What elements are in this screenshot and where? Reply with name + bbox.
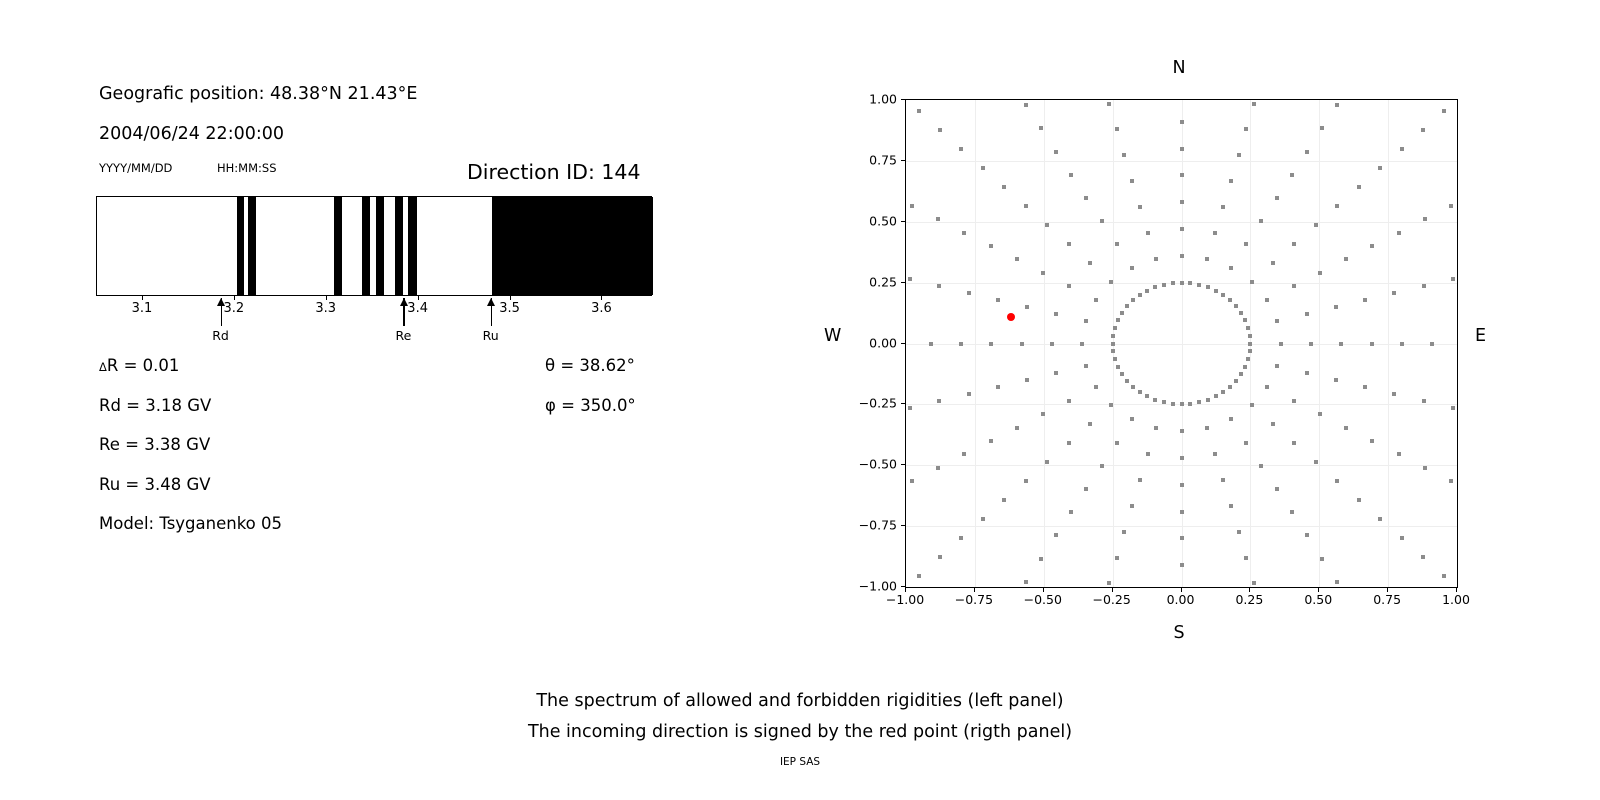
x-tick-mark <box>510 296 511 300</box>
direction-point <box>1125 379 1129 383</box>
direction-point <box>1115 127 1119 131</box>
direction-point <box>1025 305 1029 309</box>
direction-point <box>1279 342 1283 346</box>
parameter-line: ΔR = 0.01 <box>99 356 179 375</box>
direction-point <box>1145 289 1149 293</box>
x-tick-label: −0.25 <box>1092 592 1130 607</box>
parameter-line: Ru = 3.48 GV <box>99 475 211 494</box>
direction-point <box>1138 478 1142 482</box>
direction-point <box>937 284 941 288</box>
direction-point <box>1154 257 1158 261</box>
direction-point <box>1025 378 1029 382</box>
direction-point <box>1050 342 1054 346</box>
direction-point <box>1363 298 1367 302</box>
direction-point <box>1378 517 1382 521</box>
direction-point <box>1318 412 1322 416</box>
direction-point <box>1180 120 1184 124</box>
direction-point <box>1442 574 1446 578</box>
direction-point <box>1180 147 1184 151</box>
direction-point <box>1113 326 1117 330</box>
direction-point <box>1449 479 1453 483</box>
direction-point <box>1122 153 1126 157</box>
direction-point <box>1171 402 1175 406</box>
direction-point <box>1002 185 1006 189</box>
direction-point <box>1237 530 1241 534</box>
angle-line: θ = 38.62° <box>545 356 635 375</box>
caption-line-2: The incoming direction is signed by the … <box>0 717 1600 748</box>
direction-point <box>1252 581 1256 585</box>
direction-point <box>1039 126 1043 130</box>
direction-point <box>989 439 993 443</box>
direction-point <box>1084 196 1088 200</box>
parameter-line: Rd = 3.18 GV <box>99 396 211 415</box>
direction-point <box>1125 304 1129 308</box>
direction-point <box>1084 487 1088 491</box>
direction-point <box>1100 219 1104 223</box>
direction-point <box>1248 334 1252 338</box>
direction-point <box>1116 318 1120 322</box>
x-tick-mark <box>601 296 602 300</box>
direction-point <box>1111 342 1115 346</box>
direction-point <box>1153 285 1157 289</box>
direction-point <box>1067 399 1071 403</box>
datetime-label: 2004/06/24 22:00:00 <box>99 124 284 144</box>
direction-point <box>1180 227 1184 231</box>
direction-point <box>1067 242 1071 246</box>
direction-point <box>1197 400 1201 404</box>
direction-point <box>1041 271 1045 275</box>
direction-point <box>1084 364 1088 368</box>
x-tick-label: 1.00 <box>1442 592 1470 607</box>
direction-points-layer <box>906 100 1457 587</box>
direction-point <box>1451 277 1455 281</box>
forbidden-band <box>376 197 384 295</box>
direction-point <box>1357 185 1361 189</box>
direction-point <box>1422 399 1426 403</box>
y-tick-label: 1.00 <box>869 92 897 107</box>
direction-point <box>1024 580 1028 584</box>
direction-point <box>1250 403 1254 407</box>
direction-point <box>1100 464 1104 468</box>
direction-point <box>1370 439 1374 443</box>
direction-point <box>1206 398 1210 402</box>
y-tick-label: 0.75 <box>869 152 897 167</box>
direction-point <box>1244 556 1248 560</box>
forbidden-band <box>408 197 417 295</box>
direction-point <box>1088 422 1092 426</box>
direction-point <box>908 277 912 281</box>
direction-point <box>959 536 963 540</box>
direction-point <box>1205 257 1209 261</box>
direction-point <box>1146 452 1150 456</box>
direction-point <box>1237 153 1241 157</box>
direction-point <box>1244 127 1248 131</box>
direction-point <box>1069 510 1073 514</box>
direction-point <box>1020 342 1024 346</box>
x-tick-mark <box>234 296 235 300</box>
direction-point <box>917 574 921 578</box>
direction-point <box>1180 200 1184 204</box>
direction-point <box>1265 298 1269 302</box>
direction-point <box>989 342 993 346</box>
parameter-line: Re = 3.38 GV <box>99 435 210 454</box>
direction-point <box>1115 556 1119 560</box>
direction-point <box>1271 422 1275 426</box>
forbidden-band <box>334 197 342 295</box>
direction-point <box>1188 281 1192 285</box>
x-tick-label: 0.75 <box>1373 592 1401 607</box>
x-tick-label: −1.00 <box>886 592 924 607</box>
direction-point <box>1363 385 1367 389</box>
direction-point <box>1320 557 1324 561</box>
forbidden-band <box>492 197 653 295</box>
direction-point <box>1146 231 1150 235</box>
direction-point <box>1449 204 1453 208</box>
direction-point <box>1067 284 1071 288</box>
forbidden-band <box>395 197 403 295</box>
forbidden-band <box>237 197 244 295</box>
direction-point <box>996 298 1000 302</box>
direction-point <box>1314 460 1318 464</box>
direction-point <box>1094 385 1098 389</box>
direction-point <box>1162 283 1166 287</box>
direction-point <box>936 466 940 470</box>
direction-point <box>1370 342 1374 346</box>
rigidity-axis: 3.13.23.33.43.53.6RdReRu <box>96 296 652 356</box>
caption-line-1: The spectrum of allowed and forbidden ri… <box>0 686 1600 717</box>
direction-point <box>1357 498 1361 502</box>
direction-point <box>938 128 942 132</box>
angle-line: φ = 350.0° <box>545 396 636 415</box>
y-tick-label: 0.25 <box>869 274 897 289</box>
y-tick-label: 0.50 <box>869 213 897 228</box>
direction-point <box>1045 223 1049 227</box>
x-tick-label: 3.6 <box>591 301 612 316</box>
direction-point <box>1239 311 1243 315</box>
y-tick-mark <box>901 221 905 222</box>
direction-point <box>910 204 914 208</box>
parameter-text: R = 0.01 <box>107 356 180 375</box>
forbidden-band <box>248 197 256 295</box>
direction-map-panel: N S W E −1.00−0.75−0.50−0.250.000.250.50… <box>820 40 1520 660</box>
direction-point <box>1243 365 1247 369</box>
direction-point <box>1423 217 1427 221</box>
direction-point <box>1138 390 1142 394</box>
direction-plot-area <box>905 99 1458 588</box>
direction-point <box>1138 293 1142 297</box>
direction-point <box>1041 412 1045 416</box>
direction-point <box>917 109 921 113</box>
compass-north-label: N <box>1172 58 1185 78</box>
x-tick-label: 3.1 <box>132 301 153 316</box>
y-tick-mark <box>901 343 905 344</box>
direction-point <box>1221 390 1225 394</box>
direction-point <box>1335 479 1339 483</box>
y-tick-mark <box>901 160 905 161</box>
x-tick-label: 0.50 <box>1304 592 1332 607</box>
rigidity-spectrum-panel: Geografic position: 48.38°N 21.43°E 2004… <box>0 0 700 620</box>
x-tick-mark <box>418 296 419 300</box>
direction-point <box>1400 536 1404 540</box>
direction-point <box>1015 426 1019 430</box>
direction-point <box>1180 510 1184 514</box>
arrow-up-icon <box>400 298 408 306</box>
direction-point <box>1153 398 1157 402</box>
direction-point <box>1320 126 1324 130</box>
direction-point <box>1180 429 1184 433</box>
direction-point <box>1130 179 1134 183</box>
parameter-line: Model: Tsyganenko 05 <box>99 514 282 533</box>
direction-point <box>1084 319 1088 323</box>
direction-point <box>1305 533 1309 537</box>
direction-point <box>1180 456 1184 460</box>
direction-point <box>1221 205 1225 209</box>
delta-symbol: Δ <box>99 360 107 374</box>
direction-point <box>1214 394 1218 398</box>
figure-caption: The spectrum of allowed and forbidden ri… <box>0 686 1600 748</box>
direction-point <box>1275 364 1279 368</box>
direction-point <box>1054 371 1058 375</box>
direction-point <box>981 166 985 170</box>
footer-label: IEP SAS <box>0 756 1600 768</box>
direction-point <box>1113 357 1117 361</box>
x-tick-label: −0.50 <box>1024 592 1062 607</box>
date-format-hint: YYYY/MM/DD <box>99 161 172 175</box>
direction-point <box>1305 371 1309 375</box>
direction-point <box>1318 271 1322 275</box>
direction-point <box>1115 242 1119 246</box>
direction-point <box>1250 280 1254 284</box>
direction-point <box>1370 244 1374 248</box>
direction-point <box>1024 103 1028 107</box>
direction-point <box>962 452 966 456</box>
x-tick-label: 3.5 <box>499 301 520 316</box>
direction-point <box>1451 406 1455 410</box>
y-tick-label: −0.50 <box>859 457 897 472</box>
direction-point <box>1275 487 1279 491</box>
direction-point <box>1292 242 1296 246</box>
direction-point <box>1039 557 1043 561</box>
y-tick-mark <box>901 464 905 465</box>
y-tick-label: −0.75 <box>859 518 897 533</box>
direction-point <box>1397 231 1401 235</box>
direction-point <box>1067 441 1071 445</box>
direction-point <box>1275 196 1279 200</box>
direction-point <box>1229 504 1233 508</box>
direction-point <box>1116 365 1120 369</box>
direction-point <box>1107 102 1111 106</box>
direction-point <box>1430 342 1434 346</box>
direction-point <box>1221 478 1225 482</box>
direction-point <box>1314 223 1318 227</box>
direction-point <box>1244 242 1248 246</box>
direction-point <box>1344 426 1348 430</box>
direction-point <box>910 479 914 483</box>
marker-label: Ru <box>483 328 499 343</box>
direction-point <box>1122 530 1126 534</box>
direction-point <box>1045 460 1049 464</box>
y-axis-ticks: −1.00−0.75−0.50−0.250.000.250.500.751.00 <box>820 40 905 660</box>
direction-point <box>1259 464 1263 468</box>
direction-point <box>1180 402 1184 406</box>
x-tick-label: 3.3 <box>315 301 336 316</box>
direction-point <box>1130 266 1134 270</box>
direction-point <box>1248 342 1252 346</box>
direction-point <box>1344 257 1348 261</box>
y-tick-mark <box>901 99 905 100</box>
direction-point <box>1292 399 1296 403</box>
x-tick-mark <box>142 296 143 300</box>
direction-point <box>1271 261 1275 265</box>
direction-point <box>1334 305 1338 309</box>
x-tick-mark <box>326 296 327 300</box>
direction-point <box>1400 342 1404 346</box>
direction-point <box>1378 166 1382 170</box>
y-tick-mark <box>901 525 905 526</box>
direction-point <box>1213 231 1217 235</box>
direction-point <box>929 342 933 346</box>
direction-point <box>1259 219 1263 223</box>
forbidden-band <box>362 197 370 295</box>
direction-point <box>1290 173 1294 177</box>
direction-point <box>1265 385 1269 389</box>
incoming-direction-marker <box>1007 313 1015 321</box>
direction-point <box>1111 334 1115 338</box>
x-tick-label: 0.00 <box>1167 592 1195 607</box>
arrow-up-icon <box>487 298 495 306</box>
direction-point <box>1334 378 1338 382</box>
direction-point <box>1335 580 1339 584</box>
direction-point <box>938 555 942 559</box>
x-axis-ticks: −1.00−0.75−0.50−0.250.000.250.500.751.00 <box>905 588 1456 628</box>
direction-point <box>1221 293 1225 297</box>
direction-point <box>1422 284 1426 288</box>
direction-point <box>1109 403 1113 407</box>
direction-point <box>1244 441 1248 445</box>
direction-point <box>1292 284 1296 288</box>
y-tick-mark <box>901 403 905 404</box>
direction-point <box>1229 266 1233 270</box>
direction-point <box>1335 103 1339 107</box>
x-tick-label: 0.25 <box>1235 592 1263 607</box>
direction-point <box>1130 417 1134 421</box>
direction-point <box>1248 349 1252 353</box>
direction-point <box>1292 441 1296 445</box>
direction-point <box>1421 555 1425 559</box>
direction-point <box>937 399 941 403</box>
direction-point <box>1131 298 1135 302</box>
direction-point <box>1111 349 1115 353</box>
direction-point <box>962 231 966 235</box>
direction-point <box>1305 150 1309 154</box>
direction-point <box>1107 581 1111 585</box>
direction-point <box>1397 452 1401 456</box>
direction-point <box>1109 280 1113 284</box>
rigidity-spectrum-bar <box>96 196 652 296</box>
direction-point <box>1024 204 1028 208</box>
x-tick-label: 3.2 <box>224 301 245 316</box>
direction-point <box>936 217 940 221</box>
direction-point <box>1015 257 1019 261</box>
direction-point <box>1054 150 1058 154</box>
y-tick-mark <box>901 282 905 283</box>
direction-point <box>1180 536 1184 540</box>
direction-point <box>1024 479 1028 483</box>
direction-point <box>1131 385 1135 389</box>
direction-point <box>996 385 1000 389</box>
direction-point <box>1228 385 1232 389</box>
direction-point <box>1120 311 1124 315</box>
y-tick-label: 0.00 <box>869 335 897 350</box>
direction-point <box>1243 318 1247 322</box>
direction-point <box>1162 400 1166 404</box>
direction-point <box>1229 179 1233 183</box>
direction-point <box>1154 426 1158 430</box>
geographic-position-label: Geografic position: 48.38°N 21.43°E <box>99 84 417 104</box>
direction-point <box>1339 342 1343 346</box>
direction-point <box>1094 298 1098 302</box>
direction-point <box>1229 417 1233 421</box>
direction-point <box>1305 312 1309 316</box>
direction-point <box>1120 372 1124 376</box>
direction-point <box>1234 304 1238 308</box>
marker-label: Re <box>395 328 411 343</box>
direction-point <box>1180 281 1184 285</box>
direction-point <box>989 244 993 248</box>
direction-point <box>959 147 963 151</box>
direction-id-label: Direction ID: 144 <box>467 160 641 184</box>
direction-point <box>1246 357 1250 361</box>
direction-point <box>1246 326 1250 330</box>
direction-point <box>1392 392 1396 396</box>
direction-point <box>1228 298 1232 302</box>
x-tick-label: −0.75 <box>955 592 993 607</box>
direction-point <box>1400 147 1404 151</box>
direction-point <box>1213 452 1217 456</box>
direction-point <box>1080 342 1084 346</box>
arrow-up-icon <box>217 298 225 306</box>
direction-point <box>1275 319 1279 323</box>
direction-point <box>1421 128 1425 132</box>
direction-point <box>1115 441 1119 445</box>
direction-point <box>1205 426 1209 430</box>
direction-point <box>1206 285 1210 289</box>
direction-point <box>1054 312 1058 316</box>
time-format-hint: HH:MM:SS <box>217 161 277 175</box>
direction-point <box>1171 281 1175 285</box>
direction-point <box>908 406 912 410</box>
direction-point <box>1002 498 1006 502</box>
direction-point <box>1180 254 1184 258</box>
direction-point <box>981 517 985 521</box>
direction-point <box>1392 291 1396 295</box>
direction-point <box>1180 173 1184 177</box>
direction-point <box>1309 342 1313 346</box>
direction-point <box>1180 483 1184 487</box>
y-tick-mark <box>901 586 905 587</box>
direction-point <box>1252 102 1256 106</box>
compass-east-label: E <box>1475 326 1486 346</box>
direction-point <box>967 291 971 295</box>
marker-label: Rd <box>212 328 229 343</box>
direction-point <box>1335 204 1339 208</box>
direction-point <box>1138 205 1142 209</box>
direction-point <box>1145 394 1149 398</box>
direction-point <box>1290 510 1294 514</box>
direction-point <box>1239 372 1243 376</box>
direction-point <box>1188 402 1192 406</box>
direction-point <box>967 392 971 396</box>
